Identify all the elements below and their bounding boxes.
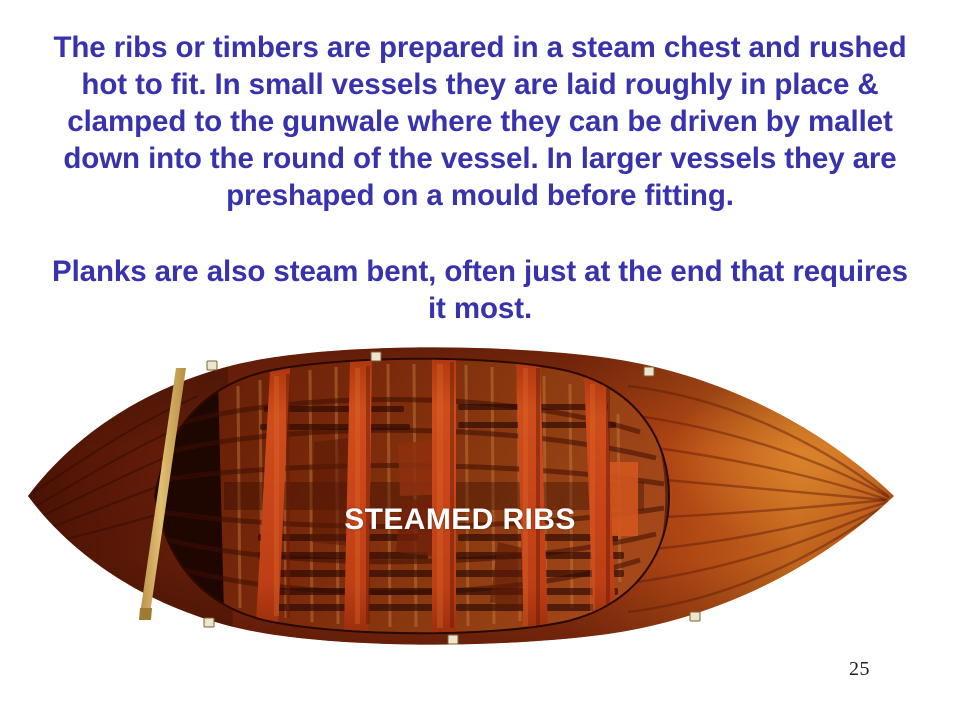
paragraph-1-line-1: The ribs or timbers are prepared in a st…	[0, 29, 960, 66]
paragraph-1-line-3: clamped to the gunwale where they can be…	[0, 103, 960, 140]
paragraph-2-line-2: it most.	[0, 290, 960, 327]
paragraph-1-line-4: down into the round of the vessel. In la…	[0, 140, 960, 177]
paragraph-2-line-1: Planks are also steam bent, often just a…	[0, 253, 960, 290]
body-paragraph-2: Planks are also steam bent, often just a…	[0, 253, 960, 327]
body-paragraph-1: The ribs or timbers are prepared in a st…	[0, 29, 960, 214]
page-number: 25	[849, 658, 870, 681]
paragraph-1-line-2: hot to fit. In small vessels they are la…	[0, 66, 960, 103]
paragraph-1-line-5: preshaped on a mould before fitting.	[0, 177, 960, 214]
boat-photograph: STEAMED RIBS	[10, 340, 910, 656]
slide-canvas: The ribs or timbers are prepared in a st…	[0, 0, 960, 720]
boat-hull-illustration	[28, 346, 894, 648]
